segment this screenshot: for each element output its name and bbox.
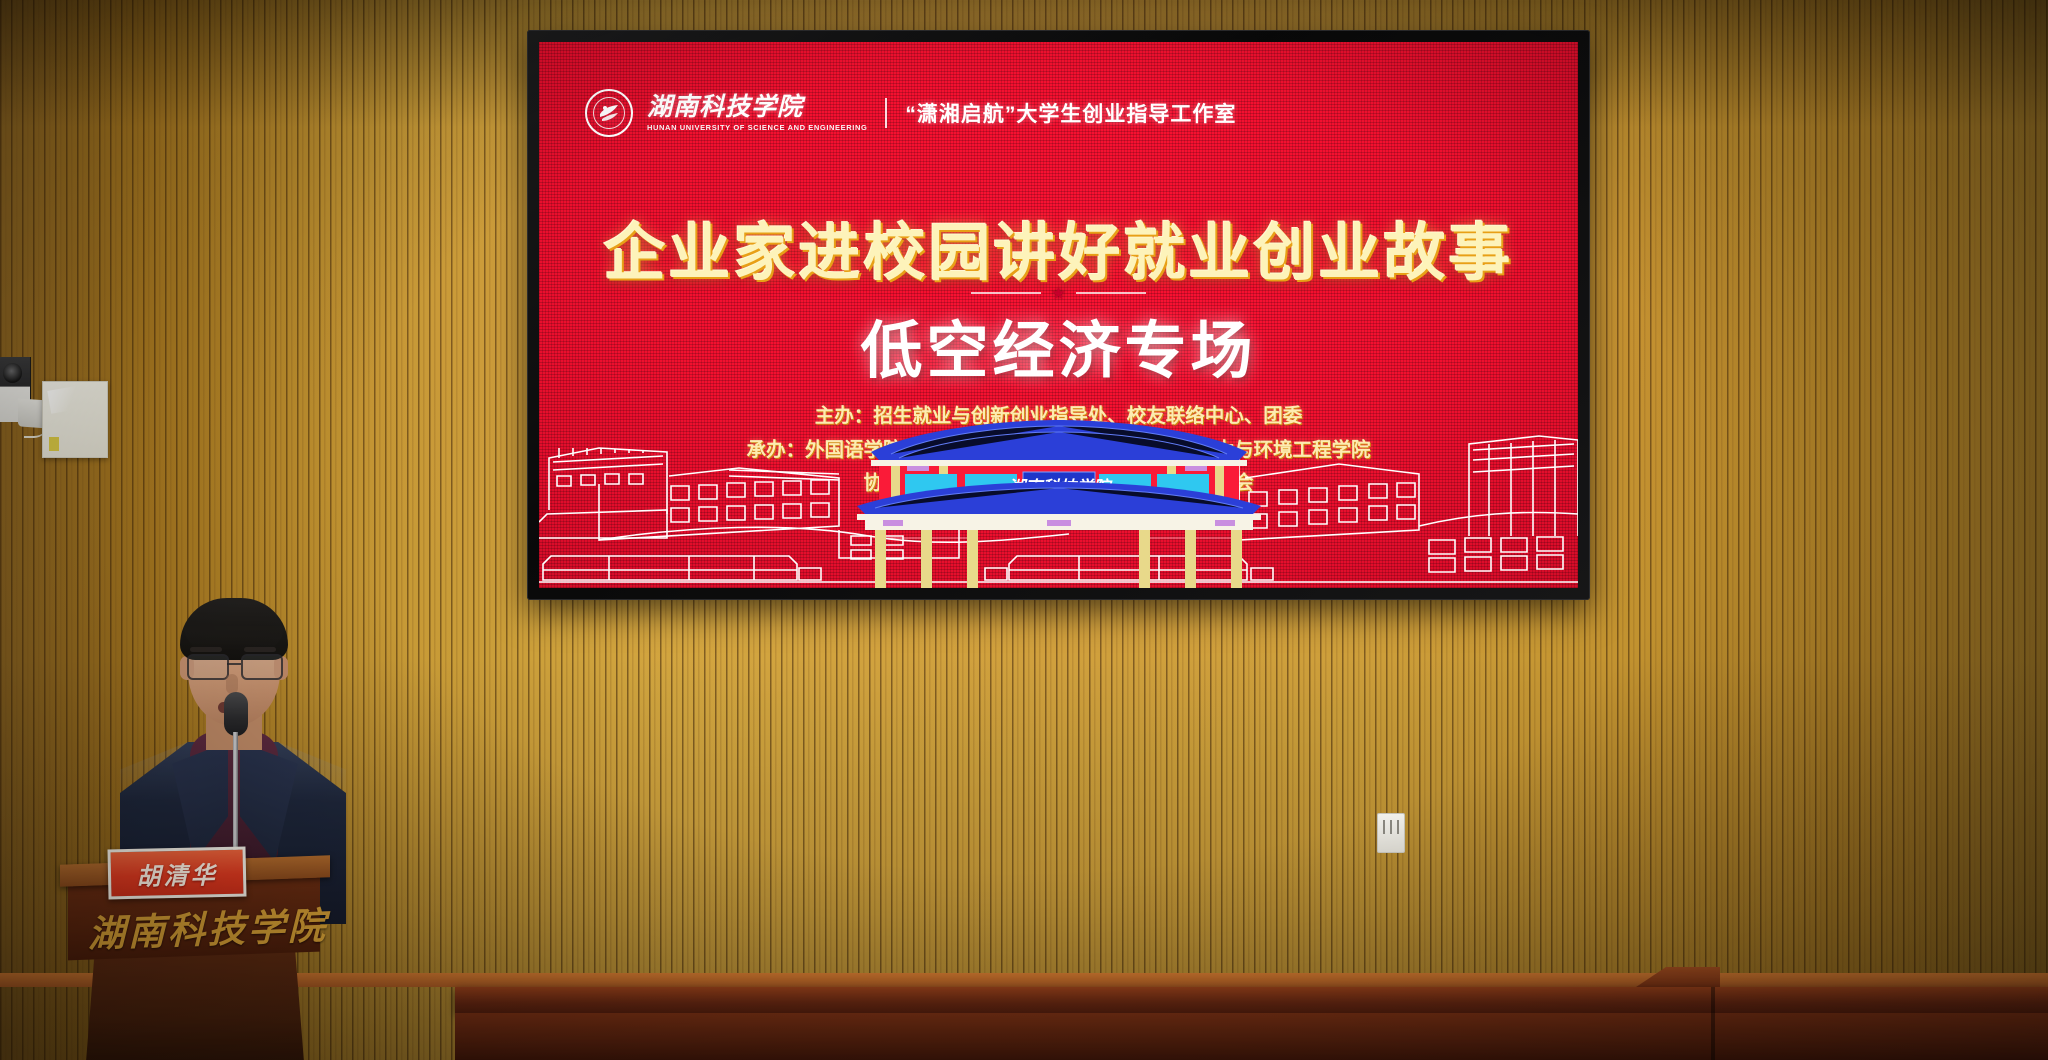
university-name-en: HUNAN UNIVERSITY OF SCIENCE AND ENGINEER… [647,123,867,132]
eyebrow-left [190,647,222,652]
table-seam [1711,987,1715,1060]
eyebrow-right [244,647,276,652]
wall-mounted-white-panel [42,381,108,458]
lectern-engraved-text: 湖南科技学院 [88,895,328,957]
star-divider: ★ [539,286,1578,300]
divider-line-right [1076,292,1146,294]
campus-gate: 湖南科技学院 [857,420,1261,588]
power-outlet [1377,813,1405,853]
workshop-label: “潇湘启航”大学生创业指导工作室 [905,98,1236,128]
lectern-body [86,952,304,1060]
university-name-cn: 湖南科技学院 [647,95,867,120]
star-icon: ★ [1051,285,1066,302]
screen-header: 湖南科技学院 HUNAN UNIVERSITY OF SCIENCE AND E… [585,90,1532,136]
led-screen-frame: 湖南科技学院 HUNAN UNIVERSITY OF SCIENCE AND E… [527,30,1590,600]
glasses-icon [184,654,284,676]
conference-table-front [455,1013,2048,1060]
main-title: 企业家进校园讲好就业创业故事 [539,202,1578,292]
conference-table-top [455,987,2048,1013]
nameplate: 胡清华 [107,847,246,900]
nose [226,674,238,694]
header-divider [885,98,887,128]
microphone-head [224,692,248,736]
divider-line-left [971,292,1041,294]
nameplate-text: 胡清华 [136,855,218,892]
university-name-block: 湖南科技学院 HUNAN UNIVERSITY OF SCIENCE AND E… [647,95,867,132]
lectern: 湖南科技学院 胡清华 [60,860,330,1060]
auditorium-scene: 湖南科技学院 HUNAN UNIVERSITY OF SCIENCE AND E… [0,0,2048,1060]
panel-glare [48,385,85,413]
subtitle: 低空经济专场 [539,300,1578,390]
campus-skyline-graphic: 湖南科技学院 [539,418,1578,588]
university-crest-icon [585,89,633,137]
led-screen: 湖南科技学院 HUNAN UNIVERSITY OF SCIENCE AND E… [539,42,1578,588]
